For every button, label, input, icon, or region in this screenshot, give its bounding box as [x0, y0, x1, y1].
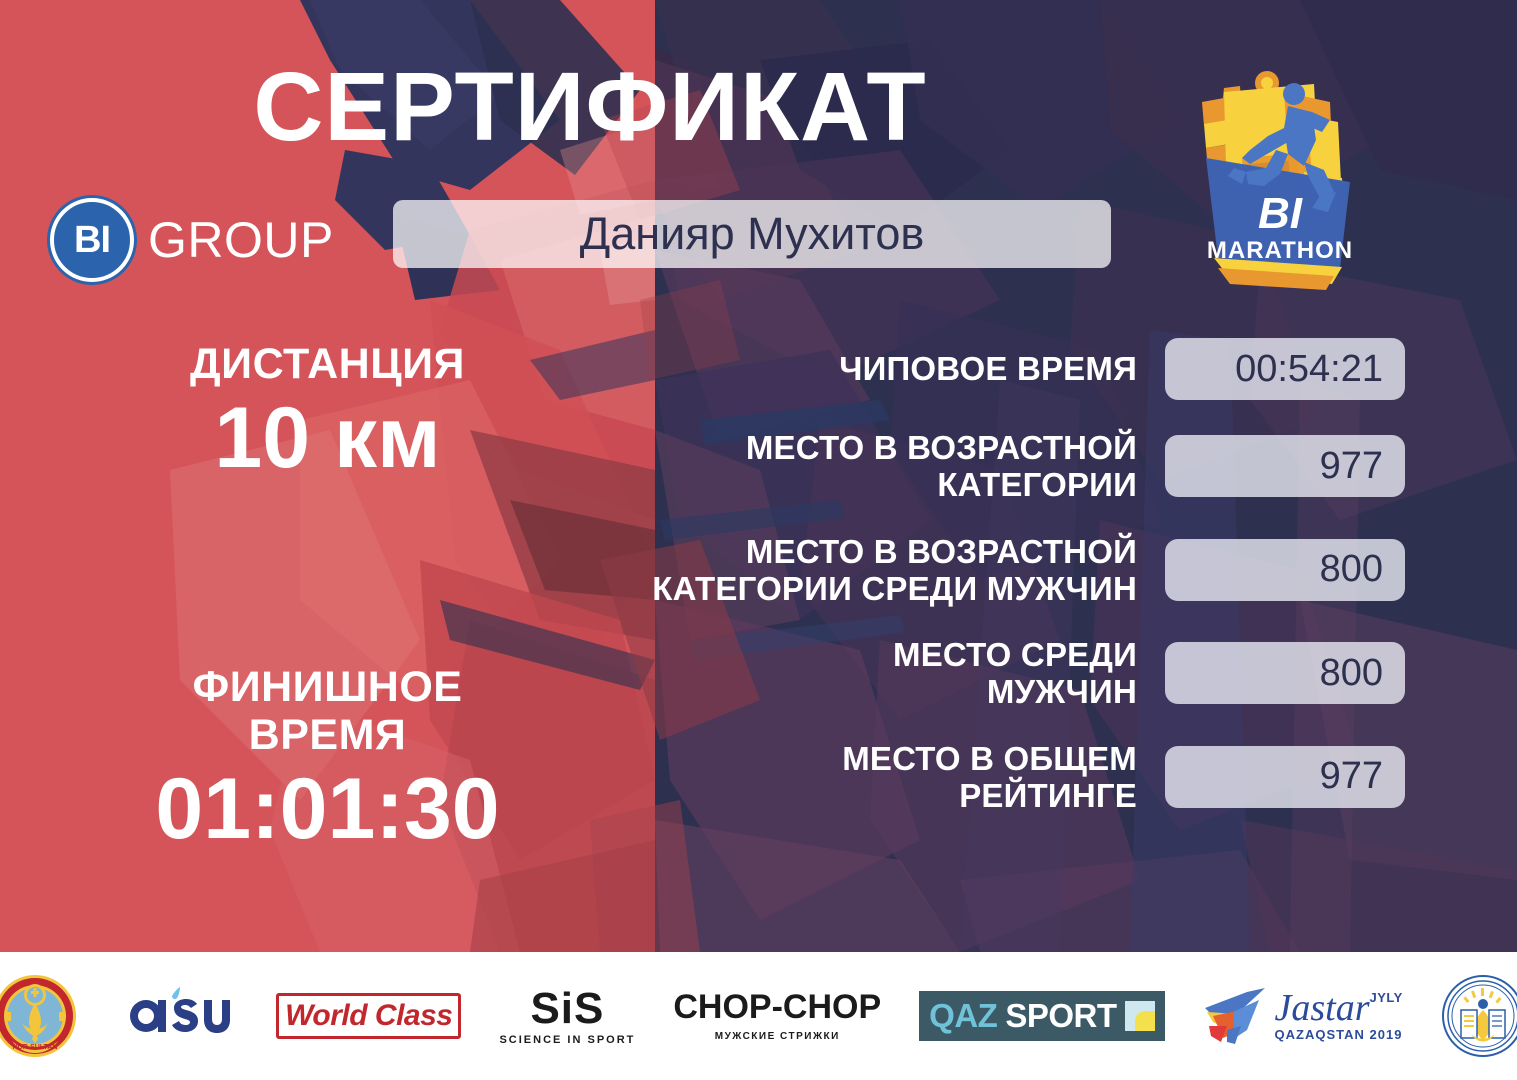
- chip-time-label: ЧИПОВОЕ ВРЕМЯ: [520, 350, 1137, 387]
- sponsor-world-class: World Class: [276, 993, 461, 1039]
- world-class-caption: World Class: [285, 999, 452, 1033]
- participant-name: Данияр Мухитов: [580, 208, 925, 260]
- sponsor-jastar-jyly: Jastar JYLY QAZAQSTAN 2019: [1203, 986, 1403, 1046]
- sponsor-bar: NUR-SULTAN World Class SiS SCIENCE IN SP…: [0, 952, 1517, 1080]
- stat-row: МЕСТО В ВОЗРАСТНОЙ КАТЕГОРИИ СРЕДИ МУЖЧИ…: [520, 533, 1405, 608]
- chop-chop-subcaption: МУЖСКИЕ СТРИЖКИ: [715, 1031, 840, 1042]
- sponsor-sis: SiS SCIENCE IN SPORT: [499, 987, 635, 1046]
- age-category-place-value: 977: [1165, 435, 1405, 497]
- sponsor-qazsport: QAZ SPORT: [919, 991, 1164, 1041]
- sis-subcaption: SCIENCE IN SPORT: [499, 1034, 635, 1046]
- men-place-value: 800: [1165, 642, 1405, 704]
- sponsor-ministry: [1441, 974, 1517, 1058]
- bi-group-name: GROUP: [148, 211, 334, 269]
- qazsport-caption-b: SPORT: [1005, 997, 1116, 1035]
- jastar-text-block: Jastar JYLY QAZAQSTAN 2019: [1275, 990, 1403, 1042]
- nur-sultan-emblem-icon: NUR-SULTAN: [0, 973, 78, 1059]
- sponsor-chop-chop: CHOP-CHOP МУЖСКИЕ СТРИЖКИ: [673, 990, 881, 1042]
- jastar-subcaption: QAZAQSTAN 2019: [1275, 1027, 1403, 1042]
- certificate-page: СЕРТИФИКАТ BI GROUP Данияр Мухитов: [0, 0, 1517, 1080]
- sponsor-nur-sultan: NUR-SULTAN: [0, 973, 78, 1059]
- stat-row: МЕСТО В ОБЩЕМ РЕЙТИНГЕ 977: [520, 740, 1405, 815]
- bi-marathon-runner-logo: BI MARATHON: [1184, 62, 1384, 297]
- jastar-jyly-logo-icon: Jastar JYLY QAZAQSTAN 2019: [1203, 986, 1403, 1046]
- age-category-men-place-value: 800: [1165, 539, 1405, 601]
- jastar-bird-icon: [1203, 986, 1269, 1046]
- world-class-logo-icon: World Class: [276, 993, 461, 1039]
- page-title: СЕРТИФИКАТ: [0, 58, 1180, 155]
- sponsor-asu: [116, 986, 238, 1046]
- men-place-label: МЕСТО СРЕДИ МУЖЧИН: [520, 636, 1137, 711]
- stat-row: МЕСТО В ВОЗРАСТНОЙ КАТЕГОРИИ 977: [520, 429, 1405, 504]
- participant-name-field: Данияр Мухитов: [393, 200, 1111, 268]
- ministry-culture-sport-emblem-icon: [1441, 974, 1517, 1058]
- overall-place-value: 977: [1165, 746, 1405, 808]
- qazsport-logo-icon: QAZ SPORT: [919, 991, 1164, 1041]
- asu-logo-icon: [116, 986, 238, 1046]
- chip-time-value: 00:54:21: [1165, 338, 1405, 400]
- age-category-men-place-label: МЕСТО В ВОЗРАСТНОЙ КАТЕГОРИИ СРЕДИ МУЖЧИ…: [520, 533, 1137, 608]
- sis-caption: SiS: [530, 987, 604, 1031]
- qazsport-square-icon: [1125, 1001, 1155, 1031]
- age-category-place-label: МЕСТО В ВОЗРАСТНОЙ КАТЕГОРИИ: [520, 429, 1137, 504]
- marathon-logo-secondary: MARATHON: [1207, 237, 1353, 264]
- marathon-logo-primary: BI: [1258, 189, 1303, 238]
- qazsport-caption-a: QAZ: [929, 997, 997, 1035]
- chop-chop-caption: CHOP-CHOP: [673, 990, 881, 1024]
- overall-place-label: МЕСТО В ОБЩЕМ РЕЙТИНГЕ: [520, 740, 1137, 815]
- right-stats: ЧИПОВОЕ ВРЕМЯ 00:54:21 МЕСТО В ВОЗРАСТНО…: [520, 338, 1405, 843]
- sis-logo-icon: SiS SCIENCE IN SPORT: [499, 987, 635, 1046]
- bi-group-roundel-icon: BI: [50, 198, 134, 282]
- stat-row: МЕСТО СРЕДИ МУЖЧИН 800: [520, 636, 1405, 711]
- jastar-caption: Jastar: [1275, 990, 1370, 1026]
- stat-row: ЧИПОВОЕ ВРЕМЯ 00:54:21: [520, 338, 1405, 400]
- chop-chop-logo-icon: CHOP-CHOP МУЖСКИЕ СТРИЖКИ: [673, 990, 881, 1042]
- nur-sultan-caption: NUR-SULTAN: [13, 1044, 58, 1051]
- bi-marathon-logo: BI MARATHON: [1184, 62, 1384, 297]
- bi-group-logo: BI GROUP: [50, 198, 334, 282]
- jastar-supcaption: JYLY: [1370, 990, 1403, 1005]
